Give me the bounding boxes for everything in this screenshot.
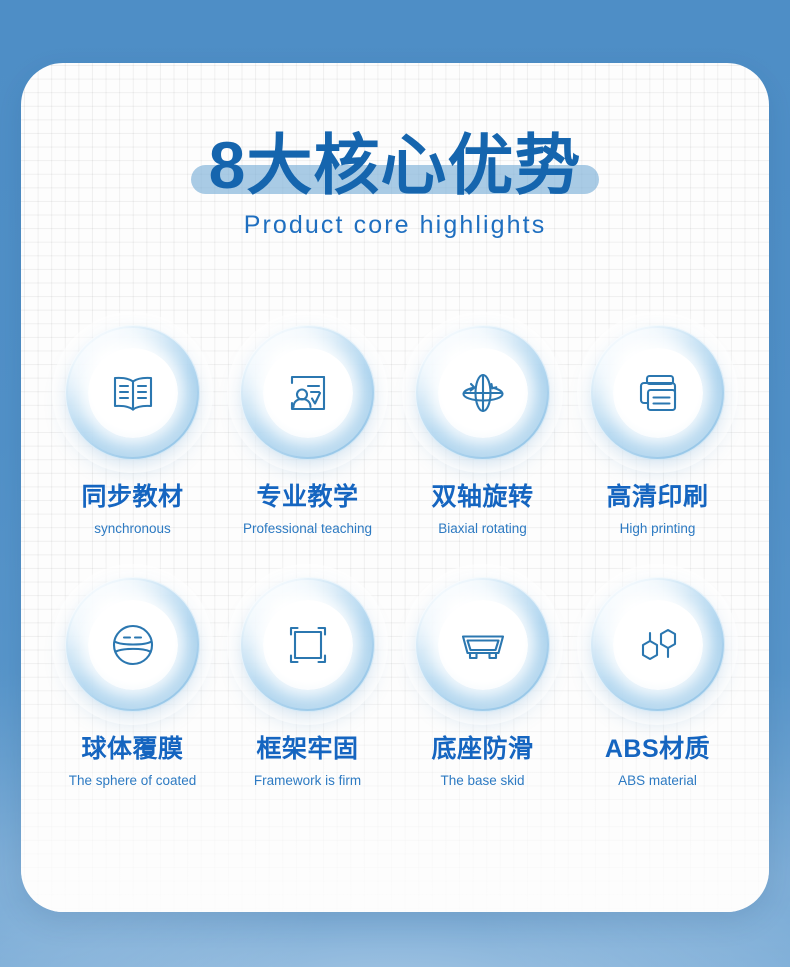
hexagon-molecule-icon — [630, 617, 686, 673]
feature-item: 底座防滑 The base skid — [395, 577, 570, 788]
feature-item: 专业教学 Professional teaching — [220, 325, 395, 536]
feature-badge — [240, 325, 375, 460]
badge-core — [263, 348, 353, 438]
page-heading: 8大核心优势 Product core highlights — [21, 131, 769, 240]
feature-label-en: Biaxial rotating — [438, 521, 527, 536]
frame-brackets-icon — [280, 617, 336, 673]
badge-core — [88, 600, 178, 690]
open-book-icon — [105, 365, 161, 421]
feature-badge — [415, 325, 550, 460]
badge-core — [438, 348, 528, 438]
badge-core — [438, 600, 528, 690]
page-subtitle: Product core highlights — [21, 211, 769, 240]
feature-badge — [65, 325, 200, 460]
feature-label-en: The base skid — [440, 773, 524, 788]
feature-label-en: High printing — [620, 521, 696, 536]
promo-page: 8大核心优势 Product core highlights — [0, 0, 790, 967]
feature-label-cn: 双轴旋转 — [431, 477, 533, 513]
title-wrap: 8大核心优势 — [191, 131, 600, 200]
feature-label-cn: 底座防滑 — [431, 729, 533, 765]
feature-label-cn: 同步教材 — [81, 477, 183, 513]
feature-item: 高清印刷 High printing — [570, 325, 745, 536]
certificate-person-icon — [280, 365, 336, 421]
feature-badge — [590, 577, 725, 712]
feature-badge — [240, 577, 375, 712]
feature-item: 框架牢固 Framework is firm — [220, 577, 395, 788]
feature-grid: 同步教材 synchronous — [45, 325, 745, 788]
badge-core — [263, 600, 353, 690]
feature-label-cn: 球体覆膜 — [81, 729, 183, 765]
page-title: 8大核心优势 — [209, 131, 582, 200]
printer-icon — [630, 365, 686, 421]
biaxial-rotation-icon — [455, 365, 511, 421]
feature-badge — [590, 325, 725, 460]
feature-label-cn: 专业教学 — [256, 477, 358, 513]
badge-core — [88, 348, 178, 438]
content-card: 8大核心优势 Product core highlights — [21, 63, 769, 912]
feature-label-en: Professional teaching — [243, 521, 372, 536]
feature-item: 球体覆膜 The sphere of coated — [45, 577, 220, 788]
feature-label-cn: 高清印刷 — [606, 477, 708, 513]
base-stand-icon — [455, 617, 511, 673]
feature-badge — [65, 577, 200, 712]
globe-sphere-icon — [105, 617, 161, 673]
feature-item: 双轴旋转 Biaxial rotating — [395, 325, 570, 536]
feature-label-en: The sphere of coated — [69, 773, 197, 788]
badge-core — [613, 348, 703, 438]
feature-label-en: synchronous — [94, 521, 171, 536]
feature-label-en: ABS material — [618, 773, 697, 788]
badge-core — [613, 600, 703, 690]
feature-label-en: Framework is firm — [254, 773, 361, 788]
feature-item: 同步教材 synchronous — [45, 325, 220, 536]
feature-label-cn: 框架牢固 — [256, 729, 358, 765]
feature-item: ABS材质 ABS material — [570, 577, 745, 788]
feature-badge — [415, 577, 550, 712]
feature-label-cn: ABS材质 — [605, 729, 710, 765]
